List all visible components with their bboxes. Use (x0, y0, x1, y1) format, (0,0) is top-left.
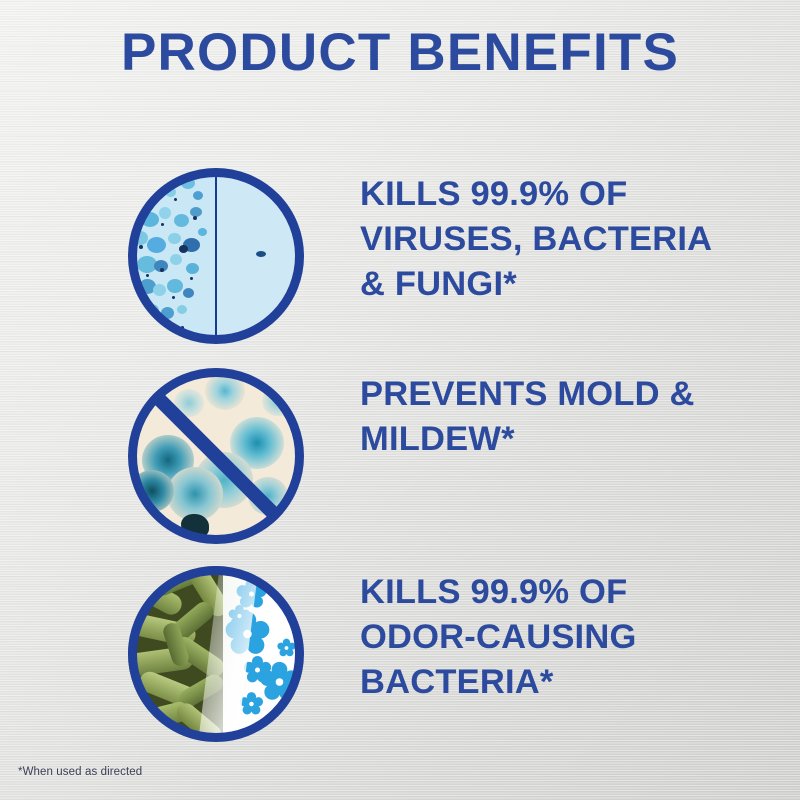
footnote: *When used as directed (18, 766, 142, 778)
page-title: PRODUCT BENEFITS (0, 26, 800, 79)
germs-before-after-icon (128, 168, 304, 344)
benefit-line: BACTERIA* (360, 660, 740, 705)
icon-circle-1 (128, 168, 304, 344)
benefit-row-2: PREVENTS MOLD & MILDEW* (0, 368, 800, 546)
benefit-line: KILLS 99.9% OF (360, 172, 740, 217)
benefit-line: PREVENTS MOLD & (360, 372, 740, 417)
benefit-line: KILLS 99.9% OF (360, 570, 740, 615)
benefit-line: ODOR-CAUSING (360, 615, 740, 660)
benefit-line: MILDEW* (360, 417, 740, 462)
icon-divider-line (215, 168, 218, 344)
product-benefits-panel: PRODUCT BENEFITS (0, 0, 800, 800)
clean-side (216, 168, 304, 344)
benefit-line: & FUNGI* (360, 262, 740, 307)
benefit-row-1: KILLS 99.9% OF VIRUSES, BACTERIA & FUNGI… (0, 168, 800, 346)
benefit-line: VIRUSES, BACTERIA (360, 217, 740, 262)
germ-side (128, 168, 216, 344)
icon-circle-3 (128, 566, 304, 742)
benefit-row-3: KILLS 99.9% OF ODOR-CAUSING BACTERIA* (0, 566, 800, 744)
benefit-text-3: KILLS 99.9% OF ODOR-CAUSING BACTERIA* (360, 570, 740, 705)
benefit-text-2: PREVENTS MOLD & MILDEW* (360, 372, 740, 462)
no-mold-mildew-icon (128, 368, 304, 544)
odor-bacteria-freshness-icon (128, 566, 304, 742)
benefit-text-1: KILLS 99.9% OF VIRUSES, BACTERIA & FUNGI… (360, 172, 740, 307)
icon-circle-2 (128, 368, 304, 544)
